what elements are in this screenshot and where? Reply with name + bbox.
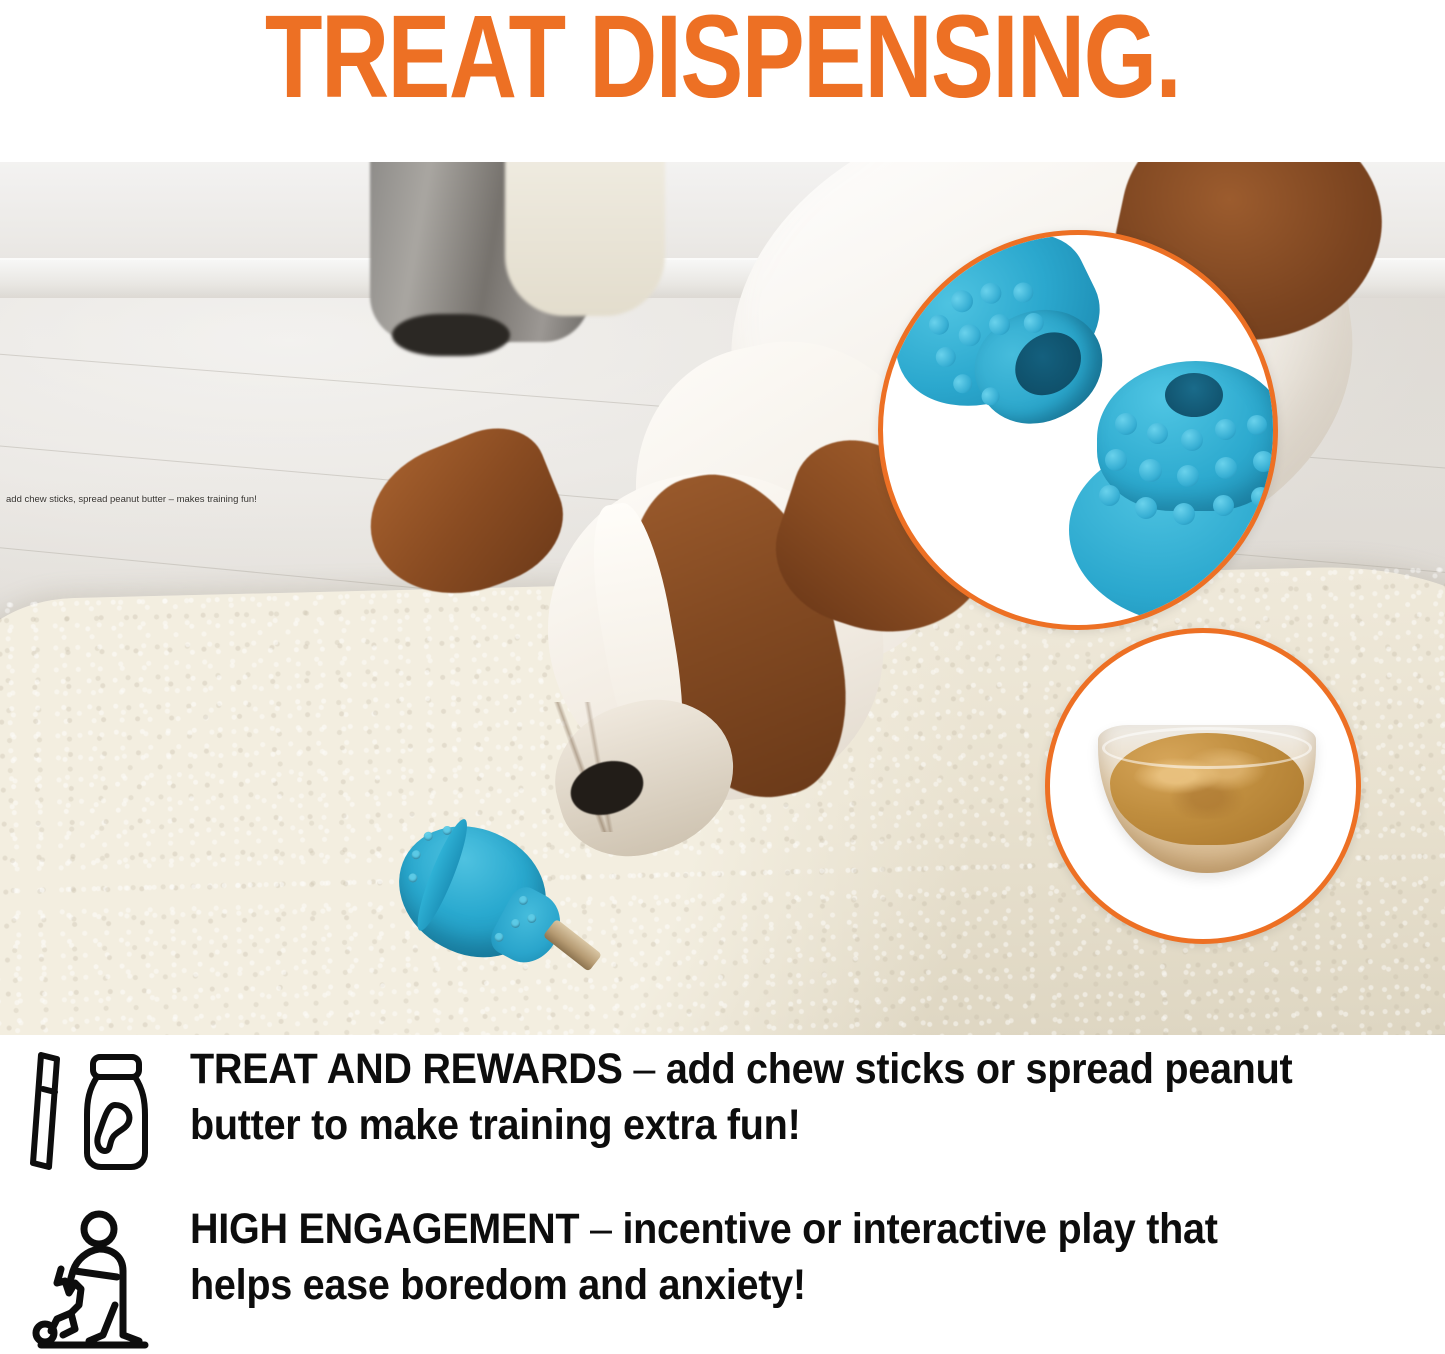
photo-overlay-caption: add chew sticks, spread peanut butter – …: [6, 494, 257, 506]
chew-stick-and-peanut-butter-jar-icon: [0, 1041, 190, 1175]
feature-dash-1: –: [623, 1045, 666, 1093]
person-playing-with-dog-icon: [0, 1201, 190, 1349]
page-title: TREAT DISPENSING.: [145, 0, 1301, 122]
feature-heading-1: TREAT AND REWARDS: [190, 1045, 623, 1093]
hero-photo: add chew sticks, spread peanut butter – …: [0, 162, 1445, 1035]
feature-text-1: TREAT AND REWARDS – add chew sticks or s…: [190, 1041, 1345, 1153]
inset-peanut-butter: [1045, 628, 1361, 944]
peanut-butter-bowl: [1098, 725, 1316, 873]
feature-item-treat-and-rewards: TREAT AND REWARDS – add chew sticks or s…: [0, 1041, 1445, 1175]
feature-item-high-engagement: HIGH ENGAGEMENT – incentive or interacti…: [0, 1201, 1445, 1349]
feature-dash-2: –: [579, 1205, 622, 1253]
headline-bar: TREAT DISPENSING.: [0, 0, 1445, 162]
feature-heading-2: HIGH ENGAGEMENT: [190, 1205, 579, 1253]
bowl-rim: [1102, 727, 1312, 769]
toy-closeup-right: [1069, 357, 1278, 607]
toy-treat-opening: [1165, 373, 1223, 417]
inset-toy-closeup: [878, 230, 1278, 630]
feature-text-2: HIGH ENGAGEMENT – incentive or interacti…: [190, 1201, 1345, 1313]
feature-list: TREAT AND REWARDS – add chew sticks or s…: [0, 1035, 1445, 1354]
